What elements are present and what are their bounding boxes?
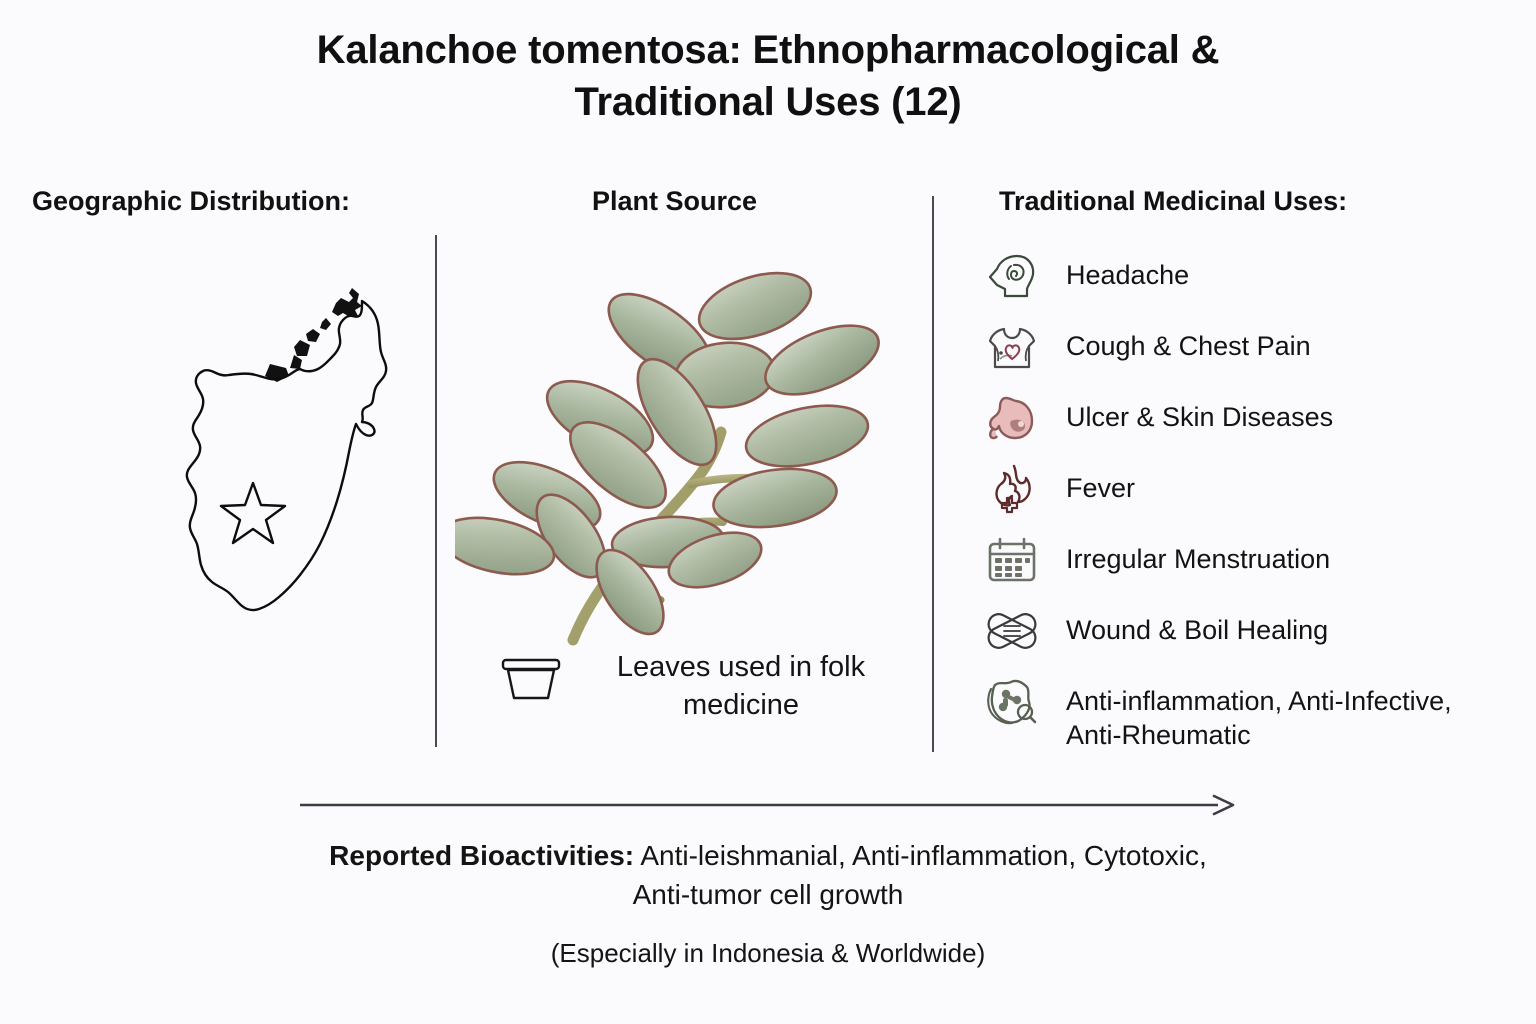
- use-item-fever[interactable]: Fever: [984, 461, 1524, 532]
- madagascar-map: [150, 272, 430, 630]
- use-item-anti-inflammation[interactable]: Anti-inflammation, Anti-Infective, Anti-…: [984, 674, 1524, 752]
- stomach-icon: [984, 390, 1040, 446]
- use-label: Fever: [1040, 461, 1135, 505]
- page-title: Kalanchoe tomentosa: Ethnopharmacologica…: [0, 24, 1536, 128]
- bioactivities-line-2: Anti-tumor cell growth: [0, 875, 1536, 914]
- use-item-ulcer-skin-diseases[interactable]: Ulcer & Skin Diseases: [984, 390, 1524, 461]
- flame-icon: [984, 461, 1040, 517]
- use-item-irregular-menstruation[interactable]: Irregular Menstruation: [984, 532, 1524, 603]
- bioactivities-label: Reported Bioactivities:: [329, 840, 634, 871]
- title-line-1: Kalanchoe tomentosa: Ethnopharmacologica…: [0, 24, 1536, 76]
- title-line-2: Traditional Uses (12): [0, 76, 1536, 128]
- bioactivities-note: (Especially in Indonesia & Worldwide): [0, 936, 1536, 970]
- progression-arrow: [300, 788, 1235, 822]
- traditional-uses-header: Traditional Medicinal Uses:: [999, 185, 1347, 217]
- infographic-canvas: Kalanchoe tomentosa: Ethnopharmacologica…: [0, 0, 1536, 1024]
- plant-caption: Leaves used in folk medicine: [500, 648, 920, 724]
- pot-icon: [500, 656, 562, 707]
- use-label: Irregular Menstruation: [1040, 532, 1330, 576]
- use-item-cough-chest-pain[interactable]: Cough & Chest Pain: [984, 319, 1524, 390]
- plant-caption-text: Leaves used in folk medicine: [576, 648, 906, 724]
- chest-heart-icon: [984, 319, 1040, 375]
- bioactivities-values: Anti-leishmanial, Anti-inflammation, Cyt…: [634, 840, 1207, 871]
- use-label: Cough & Chest Pain: [1040, 319, 1311, 363]
- map-star-marker: [221, 483, 285, 543]
- calendar-icon: [984, 532, 1040, 588]
- use-label: Ulcer & Skin Diseases: [1040, 390, 1333, 434]
- bioactivities-block: Reported Bioactivities: Anti-leishmanial…: [0, 836, 1536, 970]
- bandage-cross-icon: [984, 603, 1040, 659]
- geographic-distribution-header: Geographic Distribution:: [32, 185, 350, 217]
- bioactivities-line-1: Reported Bioactivities: Anti-leishmanial…: [0, 836, 1536, 875]
- use-label: Headache: [1040, 248, 1189, 292]
- use-label: Wound & Boil Healing: [1040, 603, 1328, 647]
- use-item-wound-boil-healing[interactable]: Wound & Boil Healing: [984, 603, 1524, 674]
- traditional-uses-list: Headache Cough & Chest Pain: [984, 248, 1524, 752]
- kalanchoe-plant-illustration: [455, 240, 915, 660]
- column-divider-left: [435, 235, 437, 747]
- use-item-headache[interactable]: Headache: [984, 248, 1524, 319]
- use-label: Anti-inflammation, Anti-Infective, Anti-…: [1040, 674, 1452, 752]
- column-divider-right: [932, 196, 934, 752]
- shield-molecule-icon: [984, 674, 1040, 730]
- head-brain-icon: [984, 248, 1040, 304]
- plant-source-header: Plant Source: [592, 185, 757, 217]
